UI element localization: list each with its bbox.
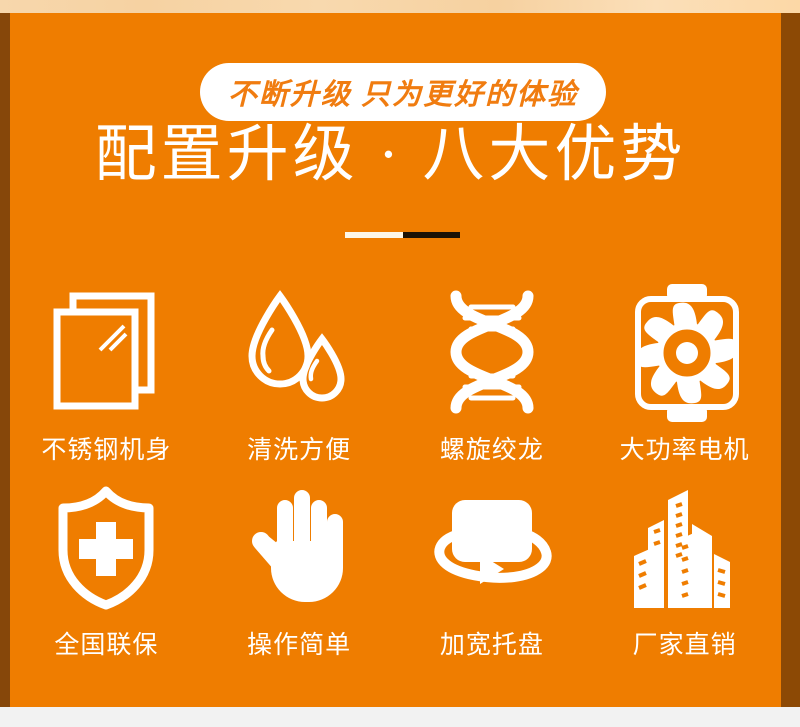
fan-motor-icon [629,285,745,420]
top-decorative-band [0,0,800,13]
shield-cross-icon [54,480,158,615]
feature-row-2: 全国联保 [10,480,781,675]
spiral-helix-auger-icon [440,285,544,420]
title-divider [345,232,460,238]
stainless-steel-plates-icon [52,285,156,420]
feature-grid: 不锈钢机身 清洗方便 [10,285,781,675]
feature-item-national-warranty: 全国联保 [10,480,203,675]
tagline-pill: 不断升级 只为更好的体验 [200,63,606,121]
feature-item-wide-tray: 加宽托盘 [396,480,589,675]
feature-item-spiral-auger: 螺旋绞龙 [396,285,589,480]
rotating-tray-icon [430,480,554,615]
feature-label: 厂家直销 [633,625,737,661]
feature-label: 清洗方便 [247,430,351,466]
feature-label: 加宽托盘 [440,625,544,661]
city-buildings-icon [630,480,740,615]
tagline-text: 不断升级 只为更好的体验 [228,71,578,113]
feature-label: 不锈钢机身 [41,430,171,466]
feature-item-factory-direct: 厂家直销 [588,480,781,675]
feature-item-easy-operation: 操作简单 [203,480,396,675]
feature-item-high-power-motor: 大功率电机 [588,285,781,480]
page-title: 配置升级 · 八大优势 [0,124,781,186]
feature-label: 大功率电机 [620,430,750,466]
feature-row-1: 不锈钢机身 清洗方便 [10,285,781,480]
divider-dark-segment [403,232,461,238]
left-edge-strip [0,13,10,707]
feature-item-easy-clean: 清洗方便 [203,285,396,480]
promo-banner-page: 不断升级 只为更好的体验 配置升级 · 八大优势 [0,0,800,727]
feature-label: 操作简单 [247,625,351,661]
hand-palm-icon [247,480,351,615]
feature-label: 全国联保 [54,625,158,661]
right-edge-strip [781,13,800,707]
feature-item-stainless-steel: 不锈钢机身 [10,285,203,480]
feature-label: 螺旋绞龙 [440,430,544,466]
water-droplets-icon [247,285,351,420]
divider-light-segment [345,232,403,238]
